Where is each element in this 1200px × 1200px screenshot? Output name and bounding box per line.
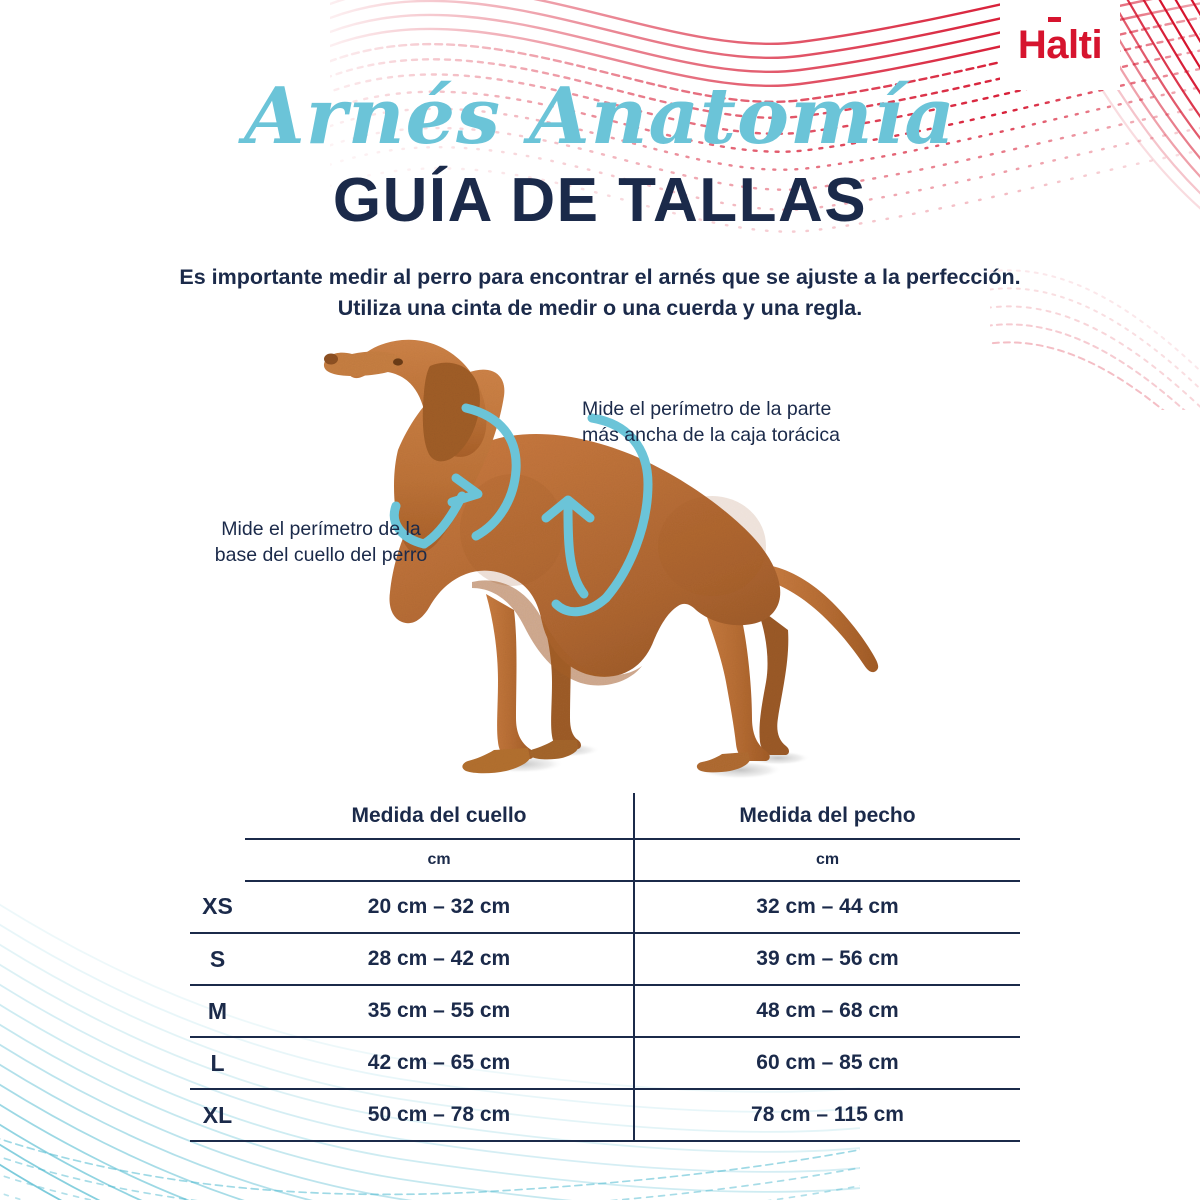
chest-range-m: 48 cm – 68 cm [634,985,1020,1037]
table-row: XL 50 cm – 78 cm 78 cm – 115 cm [190,1089,1020,1141]
page-title: GUÍA DE TALLAS [0,168,1200,233]
subtitle-line-2: Utiliza una cinta de medir o una cuerda … [0,293,1200,324]
size-chart-table: Medida del cuello Medida del pecho cm cm… [190,793,1020,1141]
neck-range-m: 35 cm – 55 cm [245,985,634,1037]
header-neck-measure: Medida del cuello [245,793,634,839]
chest-range-xl: 78 cm – 115 cm [634,1089,1020,1141]
size-guide-page: Halti Arnés Anatomía GUÍA DE TALLAS Es i… [0,0,1200,1200]
table-row: M 35 cm – 55 cm 48 cm – 68 cm [190,985,1020,1037]
unit-chest: cm [634,839,1020,881]
size-label-xs: XS [190,881,245,933]
header-chest-measure: Medida del pecho [634,793,1020,839]
callout-chest-line-1: Mide el perímetro de la parte [582,396,840,422]
logo-crossbar-decoration [1048,17,1061,22]
size-label-xl: XL [190,1089,245,1141]
unit-neck: cm [245,839,634,881]
table-row: S 28 cm – 42 cm 39 cm – 56 cm [190,933,1020,985]
subtitle-line-1: Es importante medir al perro para encont… [0,262,1200,293]
neck-range-xs: 20 cm – 32 cm [245,881,634,933]
page-subtitle: Es importante medir al perro para encont… [0,262,1200,324]
table-header-row: Medida del cuello Medida del pecho [190,793,1020,839]
neck-range-l: 42 cm – 65 cm [245,1037,634,1089]
table-row: L 42 cm – 65 cm 60 cm – 85 cm [190,1037,1020,1089]
callout-neck-line-1: Mide el perímetro de la [196,516,446,542]
dog-rear-leg-far [756,606,789,755]
table-unit-row: cm cm [190,839,1020,881]
brand-logo: Halti [1000,0,1120,90]
neck-range-s: 28 cm – 42 cm [245,933,634,985]
chest-range-l: 60 cm – 85 cm [634,1037,1020,1089]
table-row: XS 20 cm – 32 cm 32 cm – 44 cm [190,881,1020,933]
unit-cell-blank [190,839,245,881]
size-label-l: L [190,1037,245,1089]
size-label-m: M [190,985,245,1037]
dog-hip-shading [658,496,766,596]
chest-range-xs: 32 cm – 44 cm [634,881,1020,933]
size-label-s: S [190,933,245,985]
size-table-element: Medida del cuello Medida del pecho cm cm… [190,793,1020,1142]
brand-logo-text: Halti [1018,23,1102,68]
callout-chest-line-2: más ancha de la caja torácica [582,422,840,448]
header-cell-blank [190,793,245,839]
dog-nose [324,354,338,365]
callout-neck-measure: Mide el perímetro de la base del cuello … [196,516,446,569]
callout-chest-measure: Mide el perímetro de la parte más ancha … [582,396,840,449]
dog-eye [393,358,403,365]
neck-range-xl: 50 cm – 78 cm [245,1089,634,1141]
callout-neck-line-2: base del cuello del perro [196,542,446,568]
chest-range-s: 39 cm – 56 cm [634,933,1020,985]
